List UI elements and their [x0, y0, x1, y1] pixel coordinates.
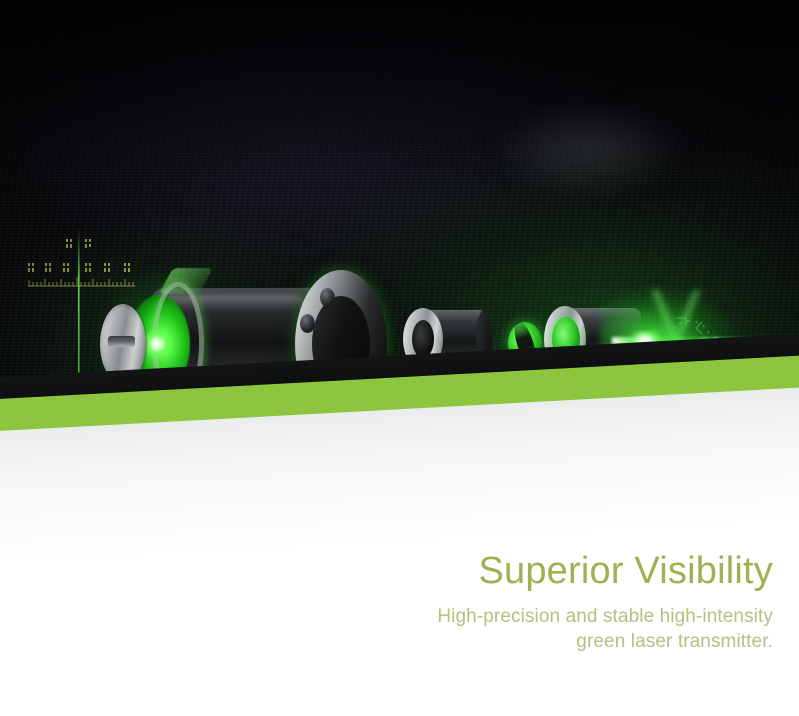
headline: Superior Visibility	[0, 548, 773, 594]
copy-block: Superior Visibility High-precision and s…	[0, 548, 799, 716]
promo-banner: GREEN LASER HEAD Superior Visibility Hig…	[0, 0, 799, 716]
subline-1: High-precision and stable high-intensity	[437, 606, 773, 627]
subline-2: green laser transmitter.	[0, 629, 773, 654]
subcopy: High-precision and stable high-intensity…	[0, 604, 773, 654]
